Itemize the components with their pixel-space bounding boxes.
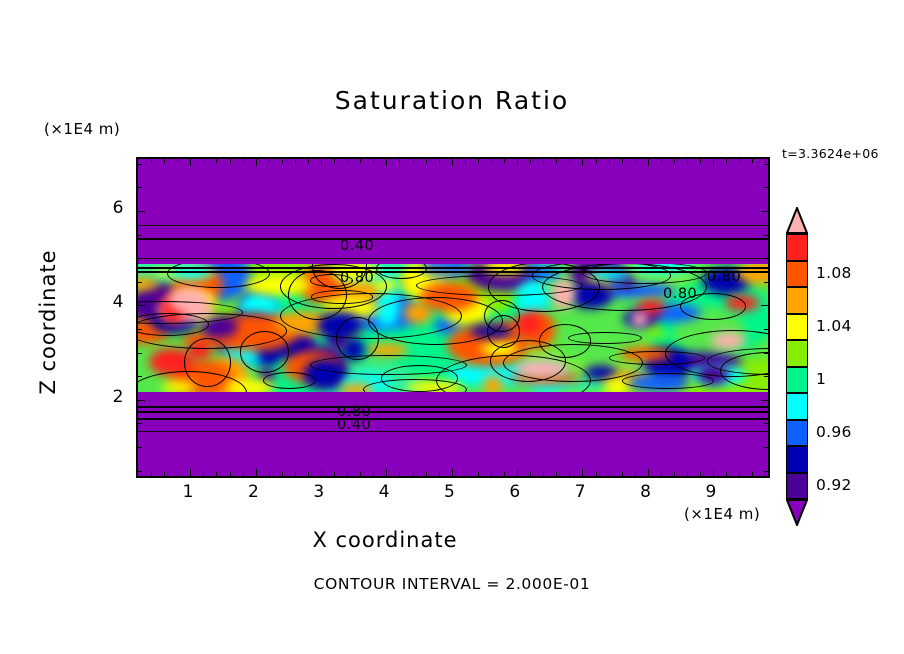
contour-line [138,258,768,259]
contour-line [311,290,373,303]
x-axis-tick [713,469,714,476]
x-axis-tick [203,159,204,163]
contour-plot-area [136,157,770,478]
contour-value-label: 0.80 [663,286,697,302]
x-axis-tick [609,159,610,163]
x-axis-tick [752,159,753,163]
x-axis-tick [413,159,414,163]
x-axis-tick [243,472,244,476]
colorbar-segment [786,314,808,341]
x-axis-tick [569,472,570,476]
x-axis-tick [726,159,727,163]
x-axis-tick [386,469,387,476]
x-axis-tick [700,159,701,163]
y-axis-tick [138,164,142,165]
x-axis-tick [373,159,374,163]
x-axis-tick [478,472,479,476]
x-axis-tick [452,469,453,476]
colorbar-segment [786,446,808,473]
y-axis-tick [764,376,768,377]
x-axis-title: X coordinate [0,528,770,552]
x-axis-tick [648,159,649,166]
x-axis-tick [282,472,283,476]
y-axis-tick [138,235,142,236]
x-axis-tick [622,472,623,476]
x-axis-tick [648,469,649,476]
colorbar-tick-label: 0.96 [816,423,852,441]
x-axis-tick [190,469,191,476]
y-axis-tick [764,329,768,330]
x-axis-tick [596,472,597,476]
x-axis-tick [295,472,296,476]
contour-value-label: 0.40 [337,417,371,433]
x-axis-tick [269,159,270,163]
y-axis-tick [764,164,768,165]
x-axis-tick [164,472,165,476]
y-axis-tick [764,353,768,354]
y-axis-tick [761,305,768,306]
y-axis-tick [138,471,142,472]
x-axis-tick [635,159,636,163]
x-axis-tick [373,472,374,476]
x-axis-tick [635,472,636,476]
x-axis-tick [739,159,740,163]
x-axis-tick [308,472,309,476]
x-axis-tick [269,472,270,476]
y-axis-tick-label: 2 [98,387,124,407]
x-axis-tick [687,159,688,163]
x-axis-tick [687,472,688,476]
x-axis-tick [308,159,309,163]
x-axis-tick [439,159,440,163]
y-axis-tick [138,258,142,259]
contour-value-label: 0.40 [340,238,374,254]
x-axis-tick [360,472,361,476]
contour-value-label: 0.80 [707,269,741,285]
colorbar-top-arrow-outline [786,207,808,234]
contour-line [138,406,768,408]
x-axis-tick [713,159,714,166]
x-axis-tick [347,472,348,476]
x-axis-tick [465,472,466,476]
contour-line [622,373,714,389]
y-axis-tick [138,400,145,401]
x-axis-tick [504,472,505,476]
x-axis-tick [596,159,597,163]
x-axis-tick [334,159,335,163]
colorbar-segment [786,234,808,261]
x-axis-tick [164,159,165,163]
x-axis-tick [426,472,427,476]
x-axis-tick [543,472,544,476]
x-axis-tick [190,159,191,166]
colorbar-tick-label: 1.04 [816,317,852,335]
x-axis-tick [726,472,727,476]
x-axis-tick [661,159,662,163]
x-axis-tick [517,159,518,166]
x-axis-tick-label: 5 [435,482,465,502]
x-axis-tick [439,472,440,476]
x-axis-tick [543,159,544,163]
x-axis-tick [413,472,414,476]
contour-line [138,411,768,413]
contour-line [503,344,643,382]
x-axis-tick-label: 6 [500,482,530,502]
x-axis-tick-label: 7 [565,482,595,502]
x-axis-tick [216,159,217,163]
x-axis-tick [609,472,610,476]
y-axis-tick [761,211,768,212]
contour-interval-caption: CONTOUR INTERVAL = 2.000E-01 [0,575,904,593]
x-axis-tick [295,159,296,163]
y-axis-tick [138,305,145,306]
y-axis-unit-label: (×1E4 m) [44,120,120,138]
contour-line [138,267,768,269]
x-axis-tick [256,159,257,166]
x-axis-tick [177,472,178,476]
y-axis-tick-label: 6 [98,198,124,218]
x-axis-tick [399,159,400,163]
colorbar-bottom-arrow-outline [786,499,808,526]
y-axis-tick [138,423,142,424]
x-axis-tick [674,159,675,163]
y-axis-tick [764,235,768,236]
x-axis-tick [465,159,466,163]
colorbar-segment [786,261,808,288]
x-axis-tick [452,159,453,166]
x-axis-tick [765,472,766,476]
y-axis-tick [138,376,142,377]
colorbar-segment [786,473,808,500]
colorbar-segment [786,393,808,420]
x-axis-tick [752,472,753,476]
colorbar-tick-label: 1 [816,370,826,388]
colorbar-tick-label: 1.08 [816,264,852,282]
x-axis-tick [582,159,583,166]
y-axis-tick-label: 4 [98,292,124,312]
x-axis-tick [203,472,204,476]
x-axis-tick [177,159,178,163]
x-axis-tick [399,472,400,476]
x-axis-tick [569,159,570,163]
contour-line [138,271,768,273]
timestamp-label: t=3.3624e+06 [782,146,879,161]
turbulent-mixing-layer [138,264,768,392]
x-axis-tick [282,159,283,163]
x-axis-tick [556,159,557,163]
x-axis-tick-label: 2 [239,482,269,502]
colorbar [786,207,808,525]
x-axis-tick [765,159,766,163]
x-axis-tick-label: 9 [696,482,726,502]
y-axis-title: Z coordinate [36,212,60,432]
x-axis-tick [321,159,322,166]
x-axis-tick [674,472,675,476]
contour-line [138,418,768,420]
x-axis-tick [216,472,217,476]
contour-line [138,225,768,226]
colorbar-segment [786,367,808,394]
x-axis-tick [230,472,231,476]
y-axis-tick [138,329,142,330]
y-axis-tick [764,258,768,259]
contour-line [138,431,768,432]
contour-line [416,275,583,296]
x-axis-tick [530,159,531,163]
x-axis-tick [347,159,348,163]
x-axis-tick [230,159,231,163]
x-axis-tick [321,469,322,476]
colorbar-tick-label: 0.92 [816,476,852,494]
x-axis-tick [582,469,583,476]
x-axis-tick [256,469,257,476]
x-axis-tick [504,159,505,163]
y-axis-tick [138,447,142,448]
y-axis-tick [764,282,768,283]
x-axis-tick [661,472,662,476]
contour-line [263,372,316,389]
x-axis-tick [530,472,531,476]
colorbar-segment [786,340,808,367]
contour-line [138,238,768,240]
x-axis-tick [700,472,701,476]
x-axis-tick-label: 8 [631,482,661,502]
x-axis-tick [478,159,479,163]
y-axis-tick [138,211,145,212]
colorbar-segment [786,287,808,314]
y-axis-tick [138,282,142,283]
contour-value-label: 0.80 [340,270,374,286]
contour-line [368,297,504,345]
y-axis-tick [764,187,768,188]
y-axis-tick [764,447,768,448]
x-axis-tick-label: 1 [173,482,203,502]
contour-cell [631,312,648,327]
y-axis-tick [764,423,768,424]
x-axis-tick [360,159,361,163]
contour-line [336,317,378,360]
x-axis-tick-label: 4 [369,482,399,502]
x-axis-tick [151,159,152,163]
x-axis-tick [491,472,492,476]
x-axis-tick [739,472,740,476]
y-axis-tick [761,400,768,401]
y-axis-tick [764,471,768,472]
y-axis-tick [138,187,142,188]
x-axis-tick [556,472,557,476]
x-axis-tick [491,159,492,163]
x-axis-tick [243,159,244,163]
x-axis-tick [622,159,623,163]
x-axis-tick [517,469,518,476]
page-title: Saturation Ratio [0,86,904,115]
x-axis-tick [386,159,387,166]
y-axis-tick [138,353,142,354]
x-axis-tick [426,159,427,163]
x-axis-tick-label: 3 [304,482,334,502]
contour-field [138,159,768,476]
colorbar-segment [786,420,808,447]
contour-line [487,315,520,348]
x-axis-tick [334,472,335,476]
x-axis-tick [151,472,152,476]
x-axis-unit-label: (×1E4 m) [684,505,760,523]
